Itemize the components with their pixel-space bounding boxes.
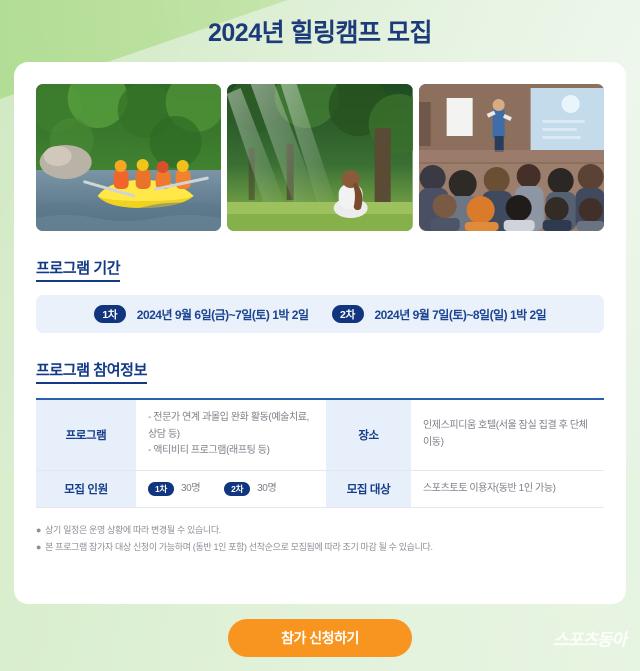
row-value-venue: 인제스피디움 호텔(서울 잠실 집결 후 단체 이동) [411,399,604,470]
note-text: 본 프로그램 참가자 대상 신청이 가능하며 (동반 1인 포함) 선착순으로 … [45,539,433,556]
row-label-target: 모집 대상 [326,470,411,508]
bullet-icon: ● [36,522,41,539]
table-row: 모집 인원 1차 30명 2차 30명 모집 대상 스포츠토토 이용자(동반 [36,470,604,508]
program-detail-line-1: - 전문가 연계 과몰입 완화 활동(예술치료, 상담 등) [148,410,314,443]
capacity-badge-1: 1차 [148,482,174,496]
capacity-badge-2: 2차 [224,482,250,496]
participation-info-heading: 프로그램 참여정보 [36,359,147,384]
program-period-band: 1차 2024년 9월 6일(금)~7일(토) 1박 2일 2차 2024년 9… [36,295,604,333]
program-detail-line-2: - 액티비티 프로그램(래프팅 등) [148,443,314,460]
row-value-program: - 전문가 연계 과몰입 완화 활동(예술치료, 상담 등) - 액티비티 프로… [136,399,326,470]
poster-footer: 참가 신청하기 스포츠동아 [0,604,640,671]
apply-button[interactable]: 참가 신청하기 [228,619,412,657]
bullet-icon: ● [36,539,41,556]
capacity-count-1: 30명 [181,481,200,498]
poster-header: 2024년 힐링캠프 모집 [0,0,640,62]
capacity-count-2: 30명 [257,481,276,498]
content-card: 프로그램 기간 1차 2024년 9월 6일(금)~7일(토) 1박 2일 2차… [14,62,626,604]
row-label-venue: 장소 [326,399,411,470]
program-period-heading: 프로그램 기간 [36,257,120,282]
poster-page: 2024년 힐링캠프 모집 [0,0,640,671]
lecture-audience-photo-art [419,84,604,231]
row-value-target: 스포츠토토 이용자(동반 1인 가능) [411,470,604,508]
note-item: ● 본 프로그램 참가자 대상 신청이 가능하며 (동반 1인 포함) 선착순으… [36,539,604,556]
session-badge-1: 1차 [94,305,126,323]
rafting-photo-art [36,84,221,231]
photo-gallery [36,84,604,231]
row-value-capacity: 1차 30명 2차 30명 [136,470,326,508]
session-badge-2: 2차 [332,305,364,323]
participation-info-table: 프로그램 - 전문가 연계 과몰입 완화 활동(예술치료, 상담 등) - 액티… [36,398,604,508]
forest-meditation-photo-art [227,84,412,231]
session-period-text-2: 2024년 9월 7일(토)~8일(일) 1박 2일 [375,306,547,323]
rafting-photo [36,84,221,231]
note-text: 상기 일정은 운영 상황에 따라 변경될 수 있습니다. [45,522,221,539]
notes-list: ● 상기 일정은 운영 상황에 따라 변경될 수 있습니다. ● 본 프로그램 … [36,522,604,555]
table-row: 프로그램 - 전문가 연계 과몰입 완화 활동(예술치료, 상담 등) - 액티… [36,399,604,470]
page-title: 2024년 힐링캠프 모집 [208,13,432,49]
row-label-capacity: 모집 인원 [36,470,136,508]
brand-logo: 스포츠동아 [553,625,626,650]
lecture-audience-photo [419,84,604,231]
row-label-program: 프로그램 [36,399,136,470]
forest-meditation-photo [227,84,412,231]
session-period-text-1: 2024년 9월 6일(금)~7일(토) 1박 2일 [137,306,309,323]
note-item: ● 상기 일정은 운영 상황에 따라 변경될 수 있습니다. [36,522,604,539]
participation-info-section: 프로그램 참여정보 프로그램 - 전문가 연계 과몰입 완화 활동(예술치료, … [36,333,604,555]
program-period-section: 프로그램 기간 1차 2024년 9월 6일(금)~7일(토) 1박 2일 2차… [36,231,604,333]
